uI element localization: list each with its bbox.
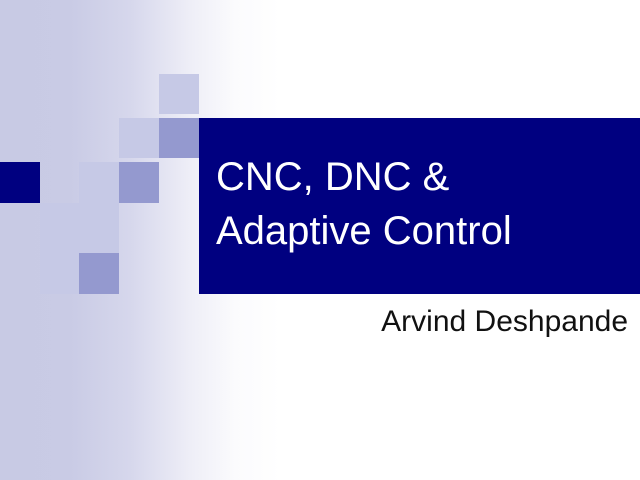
decor-square [119,162,159,203]
decor-square [40,203,79,253]
decor-square [159,74,199,114]
page-title: CNC, DNC & Adaptive Control [216,150,636,258]
decor-square [79,253,119,294]
decor-square [40,253,79,294]
decor-square [159,118,199,158]
decor-square [79,203,119,253]
author-subtitle: Arvind Deshpande [0,302,628,342]
decor-square [119,118,159,158]
decor-square [0,162,40,203]
decor-square [79,162,119,203]
title-slide: CNC, DNC & Adaptive Control Arvind Deshp… [0,0,640,480]
